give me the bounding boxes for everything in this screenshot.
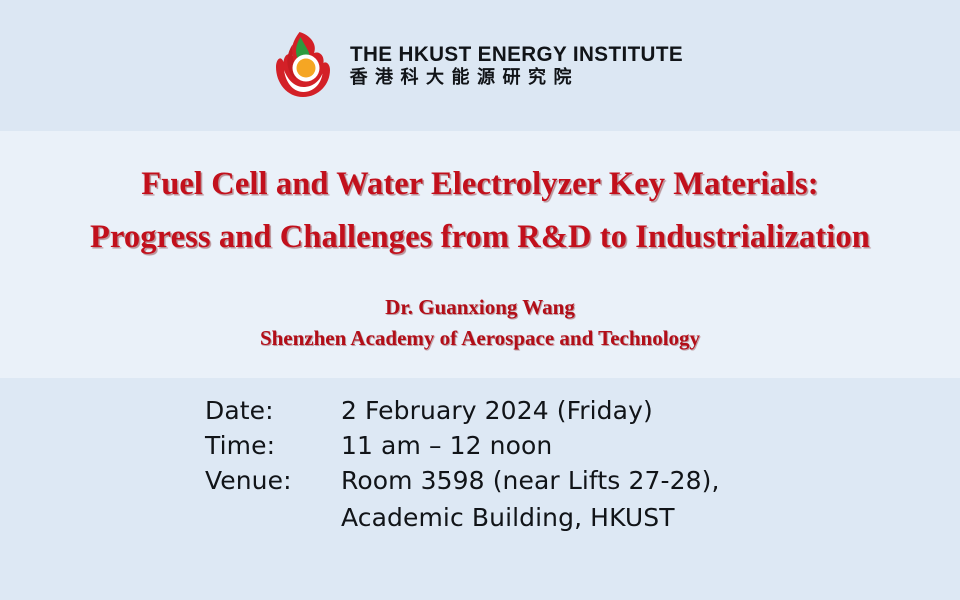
title-line-2: Progress and Challenges from R&D to Indu… bbox=[0, 211, 960, 264]
institute-name-chinese: 香港科大能源研究院 bbox=[350, 68, 697, 88]
title-line-1: Fuel Cell and Water Electrolyzer Key Mat… bbox=[0, 158, 960, 211]
time-label: Time: bbox=[205, 433, 341, 458]
poster-header: THE HKUST ENERGY INSTITUTE 香港科大能源研究院 bbox=[0, 0, 960, 131]
venue-value-line-2: Academic Building, HKUST bbox=[341, 503, 905, 532]
seminar-title: Fuel Cell and Water Electrolyzer Key Mat… bbox=[0, 158, 960, 263]
date-label: Date: bbox=[205, 398, 341, 423]
speaker-name: Dr. Guanxiong Wang bbox=[0, 292, 960, 323]
venue-value-line-1: Room 3598 (near Lifts 27-28), bbox=[341, 468, 720, 493]
speaker-affiliation: Shenzhen Academy of Aerospace and Techno… bbox=[0, 323, 960, 354]
detail-row-venue: Venue: Room 3598 (near Lifts 27-28), bbox=[205, 468, 905, 493]
institute-logo-text: THE HKUST ENERGY INSTITUTE 香港科大能源研究院 bbox=[350, 43, 697, 87]
detail-row-time: Time: 11 am – 12 noon bbox=[205, 433, 905, 458]
detail-row-date: Date: 2 February 2024 (Friday) bbox=[205, 398, 905, 423]
time-value: 11 am – 12 noon bbox=[341, 433, 552, 458]
event-details: Date: 2 February 2024 (Friday) Time: 11 … bbox=[205, 398, 905, 532]
institute-logo-lockup: THE HKUST ENERGY INSTITUTE 香港科大能源研究院 bbox=[272, 31, 697, 101]
venue-label: Venue: bbox=[205, 468, 341, 493]
flame-logo-icon bbox=[272, 31, 334, 101]
speaker-info: Dr. Guanxiong Wang Shenzhen Academy of A… bbox=[0, 292, 960, 354]
institute-name-english: THE HKUST ENERGY INSTITUTE bbox=[350, 43, 683, 66]
date-value: 2 February 2024 (Friday) bbox=[341, 398, 653, 423]
seminar-poster: THE HKUST ENERGY INSTITUTE 香港科大能源研究院 Fue… bbox=[0, 0, 960, 600]
